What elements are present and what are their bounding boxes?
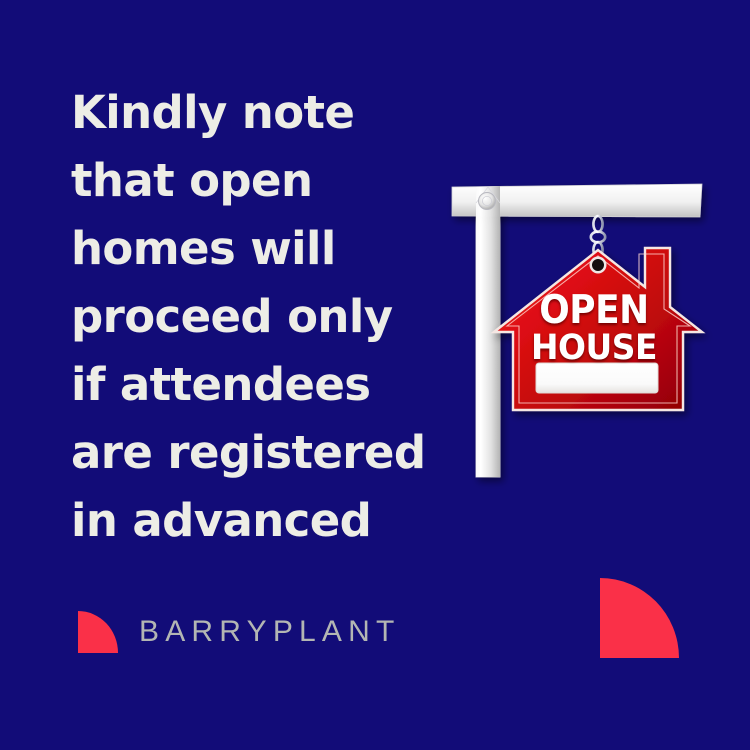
headline-line-6: are registered — [71, 419, 461, 487]
blank-info-plate — [536, 363, 658, 393]
barry-plant-wordmark: BARRYPLANT — [139, 617, 401, 647]
headline-line-3: homes will — [71, 215, 461, 283]
headline-line-1: Kindly note — [71, 79, 461, 147]
sign-grommet-hole — [590, 257, 607, 274]
open-house-sign-graphic: OPEN HOUSE — [440, 140, 730, 490]
barry-plant-quarter-circle-mark-icon — [78, 611, 118, 653]
headline-line-2: that open — [71, 147, 461, 215]
headline-line-7: in advanced — [71, 487, 461, 555]
headline-line-5: if attendees — [71, 351, 461, 419]
page-title: Kindly note that open homes will proceed… — [71, 79, 461, 555]
headline-line-4: proceed only — [71, 283, 461, 351]
quarter-circle-accent-icon — [600, 578, 679, 658]
barry-plant-logo: BARRYPLANT — [78, 611, 401, 653]
signpost-bolt — [479, 193, 496, 210]
poster-canvas: Kindly note that open homes will proceed… — [0, 0, 750, 750]
